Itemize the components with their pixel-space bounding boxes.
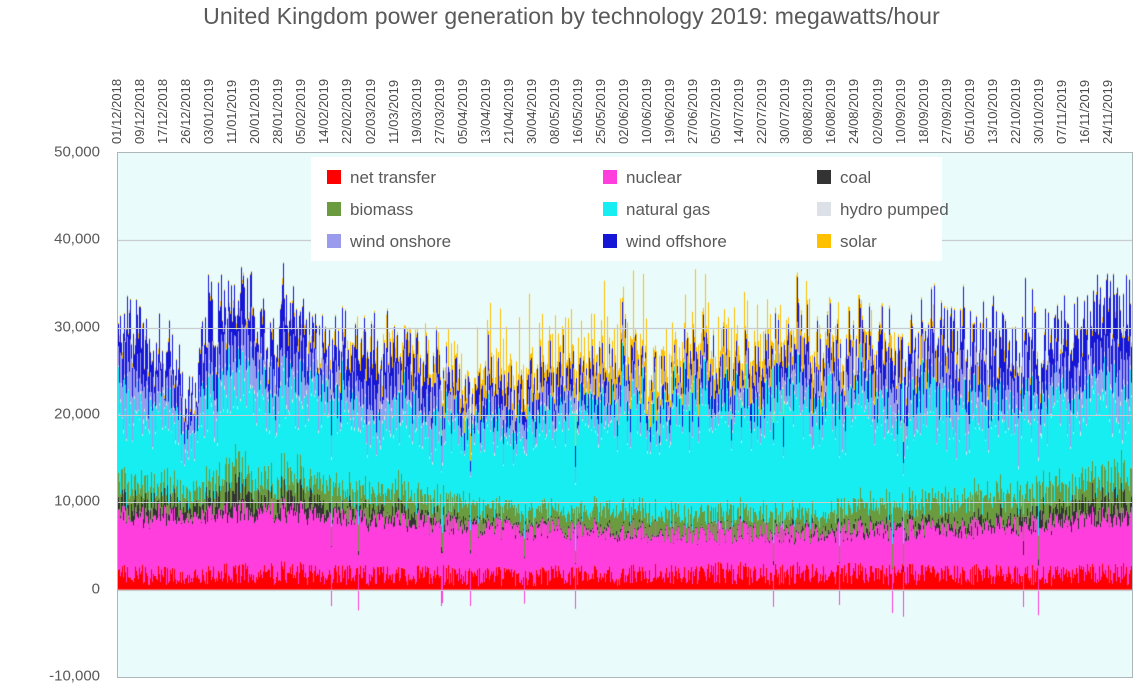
legend-swatch-biomass bbox=[327, 202, 341, 216]
y-axis-tick-label: 20,000 bbox=[54, 407, 100, 422]
legend-item-net-transfer[interactable]: net transfer bbox=[327, 169, 603, 186]
legend-label-net-transfer: net transfer bbox=[350, 169, 436, 186]
x-axis-tick-label: 18/09/2019 bbox=[917, 79, 930, 144]
x-axis: 01/12/201809/12/201817/12/201826/12/2018… bbox=[117, 0, 1133, 150]
legend-item-nuclear[interactable]: nuclear bbox=[603, 169, 817, 186]
x-axis-tick-label: 02/09/2019 bbox=[871, 79, 884, 144]
y-axis-tick-label: 40,000 bbox=[54, 232, 100, 247]
legend-label-wind-onshore: wind onshore bbox=[350, 233, 451, 250]
x-axis-tick-label: 10/09/2019 bbox=[894, 79, 907, 144]
legend-swatch-natural-gas bbox=[603, 202, 617, 216]
legend-item-coal[interactable]: coal bbox=[817, 169, 958, 186]
x-axis-tick-label: 13/04/2019 bbox=[479, 79, 492, 144]
x-axis-tick-label: 27/09/2019 bbox=[940, 79, 953, 144]
legend-swatch-net-transfer bbox=[327, 170, 341, 184]
x-axis-tick-label: 02/06/2019 bbox=[617, 79, 630, 144]
y-axis: 50,00040,00030,00020,00010,0000-10,000 bbox=[0, 152, 110, 678]
chart-legend: net transfernuclearcoalbiomassnatural ga… bbox=[311, 157, 942, 261]
x-axis-tick-label: 10/06/2019 bbox=[640, 79, 653, 144]
y-axis-tick-label: 30,000 bbox=[54, 319, 100, 334]
legend-label-hydro-pumped: hydro pumped bbox=[840, 201, 949, 218]
legend-item-solar[interactable]: solar bbox=[817, 233, 958, 250]
x-axis-tick-label: 14/07/2019 bbox=[732, 79, 745, 144]
x-axis-tick-label: 09/12/2018 bbox=[133, 79, 146, 144]
x-axis-tick-label: 16/11/2019 bbox=[1078, 80, 1091, 144]
x-axis-tick-label: 07/11/2019 bbox=[1055, 80, 1068, 144]
x-axis-tick-label: 30/10/2019 bbox=[1032, 79, 1045, 144]
x-axis-tick-label: 24/11/2019 bbox=[1101, 80, 1114, 144]
y-axis-tick-label: -10,000 bbox=[49, 669, 100, 684]
x-axis-tick-label: 01/12/2018 bbox=[110, 79, 123, 144]
x-axis-tick-label: 21/04/2019 bbox=[502, 79, 515, 144]
x-axis-tick-label: 08/05/2019 bbox=[548, 79, 561, 144]
x-axis-tick-label: 05/02/2019 bbox=[294, 79, 307, 144]
x-axis-tick-label: 25/05/2019 bbox=[594, 79, 607, 144]
x-axis-tick-label: 24/08/2019 bbox=[847, 79, 860, 144]
legend-swatch-coal bbox=[817, 170, 831, 184]
x-axis-tick-label: 14/02/2019 bbox=[317, 79, 330, 144]
x-axis-tick-label: 19/03/2019 bbox=[410, 79, 423, 144]
x-axis-tick-label: 30/04/2019 bbox=[525, 79, 538, 144]
x-axis-tick-label: 05/04/2019 bbox=[456, 79, 469, 144]
x-axis-tick-label: 11/01/2019 bbox=[225, 80, 238, 144]
x-axis-tick-label: 26/12/2018 bbox=[179, 79, 192, 144]
legend-label-natural-gas: natural gas bbox=[626, 201, 710, 218]
legend-item-hydro-pumped[interactable]: hydro pumped bbox=[817, 201, 958, 218]
legend-swatch-wind-offshore bbox=[603, 234, 617, 248]
legend-item-wind-offshore[interactable]: wind offshore bbox=[603, 233, 817, 250]
legend-label-solar: solar bbox=[840, 233, 877, 250]
x-axis-tick-label: 05/10/2019 bbox=[963, 79, 976, 144]
legend-swatch-solar bbox=[817, 234, 831, 248]
legend-swatch-nuclear bbox=[603, 170, 617, 184]
x-axis-tick-label: 16/05/2019 bbox=[571, 79, 584, 144]
chart-container: United Kingdom power generation by techn… bbox=[0, 0, 1143, 690]
legend-swatch-wind-onshore bbox=[327, 234, 341, 248]
legend-item-wind-onshore[interactable]: wind onshore bbox=[327, 233, 603, 250]
x-axis-tick-label: 28/01/2019 bbox=[271, 79, 284, 144]
x-axis-tick-label: 11/03/2019 bbox=[387, 80, 400, 144]
y-axis-tick-label: 0 bbox=[92, 581, 100, 596]
x-axis-tick-label: 19/06/2019 bbox=[663, 79, 676, 144]
legend-label-biomass: biomass bbox=[350, 201, 413, 218]
x-axis-tick-label: 08/08/2019 bbox=[801, 79, 814, 144]
x-axis-tick-label: 02/03/2019 bbox=[364, 79, 377, 144]
x-axis-tick-label: 16/08/2019 bbox=[824, 79, 837, 144]
legend-swatch-hydro-pumped bbox=[817, 202, 831, 216]
y-axis-tick-label: 10,000 bbox=[54, 494, 100, 509]
x-axis-tick-label: 22/02/2019 bbox=[340, 79, 353, 144]
x-axis-tick-label: 27/03/2019 bbox=[433, 79, 446, 144]
legend-label-nuclear: nuclear bbox=[626, 169, 682, 186]
x-axis-tick-label: 27/06/2019 bbox=[686, 79, 699, 144]
x-axis-tick-label: 22/07/2019 bbox=[755, 79, 768, 144]
x-axis-tick-label: 17/12/2018 bbox=[156, 79, 169, 144]
x-axis-tick-label: 30/07/2019 bbox=[778, 79, 791, 144]
y-axis-tick-label: 50,000 bbox=[54, 145, 100, 160]
x-axis-tick-label: 22/10/2019 bbox=[1009, 79, 1022, 144]
x-axis-tick-label: 20/01/2019 bbox=[248, 79, 261, 144]
x-axis-tick-label: 05/07/2019 bbox=[709, 79, 722, 144]
x-axis-tick-label: 13/10/2019 bbox=[986, 79, 999, 144]
legend-item-biomass[interactable]: biomass bbox=[327, 201, 603, 218]
legend-label-wind-offshore: wind offshore bbox=[626, 233, 727, 250]
x-axis-tick-label: 03/01/2019 bbox=[202, 79, 215, 144]
legend-item-natural-gas[interactable]: natural gas bbox=[603, 201, 817, 218]
legend-label-coal: coal bbox=[840, 169, 871, 186]
